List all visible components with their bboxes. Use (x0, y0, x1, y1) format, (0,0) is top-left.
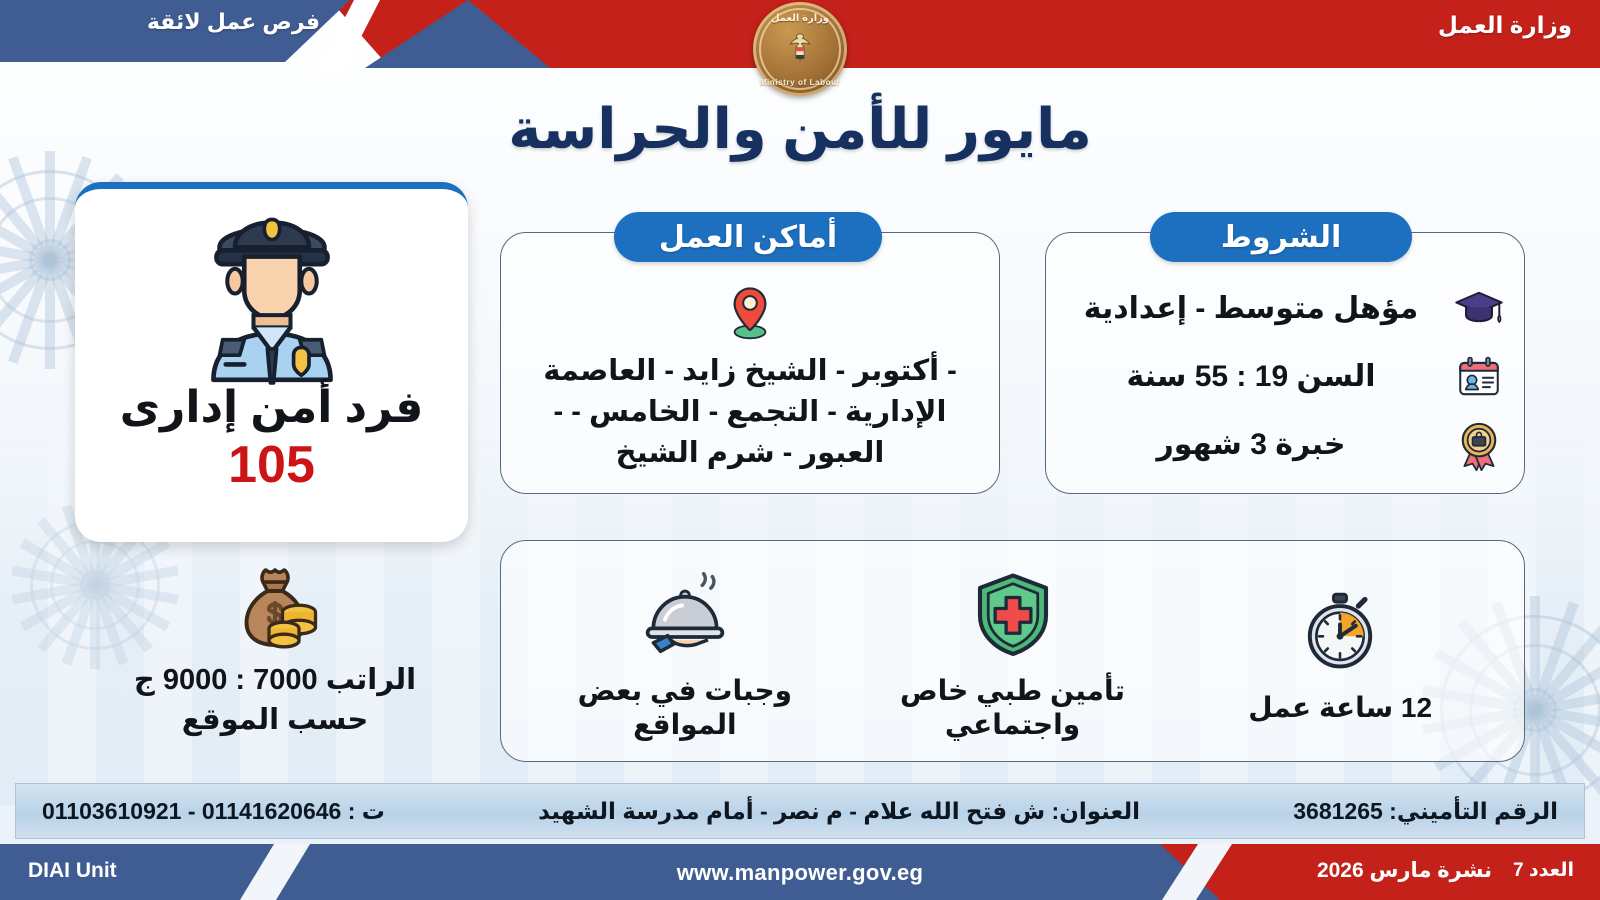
address-text: العنوان: ش فتح الله علام - م نصر - أمام … (385, 798, 1293, 825)
map-pin-icon (501, 283, 999, 341)
benefit-work-hours: 12 ساعة عمل (1190, 579, 1490, 725)
ministry-emblem: وزارة العمل Ministry of Labour (753, 2, 847, 96)
graduation-cap-icon (1452, 282, 1506, 336)
job-count: 105 (228, 435, 315, 495)
money-bag-coins-icon (227, 560, 323, 658)
locations-card: - أكتوبر - الشيخ زايد - العاصمة الإدارية… (500, 232, 1000, 494)
conditions-heading: الشروط (1150, 212, 1412, 262)
footer-website[interactable]: www.manpower.gov.eg (0, 860, 1600, 886)
award-badge-icon (1452, 418, 1506, 472)
condition-text-age: السن 19 : 55 سنة (1064, 360, 1438, 395)
conditions-list: مؤهل متوسط - إعدادية السن 19 : 55 سنة (1064, 281, 1506, 473)
emblem-arabic-text: وزارة العمل (753, 13, 847, 24)
emblem-english-text: Ministry of Labour (753, 78, 847, 87)
locations-heading: أماكن العمل (614, 212, 882, 262)
stopwatch-icon (1298, 579, 1382, 683)
salary-line-1: الراتب 7000 : 9000 ج (134, 662, 416, 698)
benefit-label-meals: وجبات في بعض المواقع (535, 674, 835, 742)
job-title: فرد أمن إدارى (120, 382, 424, 433)
benefit-label-work-hours: 12 ساعة عمل (1248, 691, 1432, 725)
condition-row-qualification: مؤهل متوسط - إعدادية (1064, 281, 1506, 337)
locations-text: - أكتوبر - الشيخ زايد - العاصمة الإدارية… (521, 351, 979, 475)
footer-bar: نشرة مارس 2026 العدد 7 www.manpower.gov.… (0, 844, 1600, 900)
meal-tray-icon (639, 562, 731, 666)
condition-row-age: السن 19 : 55 سنة (1064, 349, 1506, 405)
phone-numbers: ت : 01141620646 - 01103610921 (42, 798, 385, 825)
insurance-number: الرقم التأميني: 3681265 (1293, 798, 1558, 825)
medical-shield-icon (969, 562, 1057, 666)
salary-line-2: حسب الموقع (182, 702, 368, 738)
benefit-label-medical-insurance: تأمين طبي خاص واجتماعي (863, 674, 1163, 742)
condition-text-experience: خبرة 3 شهور (1064, 428, 1438, 463)
main-stage: الشروط مؤهل متوسط - إعدادية (0, 0, 1600, 900)
benefit-medical-insurance: تأمين طبي خاص واجتماعي (863, 562, 1163, 742)
id-card-calendar-icon (1452, 350, 1506, 404)
security-officer-icon (177, 201, 367, 386)
benefits-card: 12 ساعة عمل تأمين طبي خاص واجتماعي (500, 540, 1525, 762)
condition-row-experience: خبرة 3 شهور (1064, 417, 1506, 473)
condition-text-qualification: مؤهل متوسط - إعدادية (1064, 292, 1438, 327)
benefit-meals: وجبات في بعض المواقع (535, 562, 835, 742)
salary-block: الراتب 7000 : 9000 ج حسب الموقع (95, 560, 455, 739)
benefits-list: 12 ساعة عمل تأمين طبي خاص واجتماعي (501, 541, 1524, 761)
footer-unit: DIAI Unit (28, 859, 117, 883)
job-card: فرد أمن إدارى 105 (75, 182, 468, 542)
contact-bar: الرقم التأميني: 3681265 العنوان: ش فتح ا… (15, 783, 1585, 839)
conditions-card: مؤهل متوسط - إعدادية السن 19 : 55 سنة (1045, 232, 1525, 494)
